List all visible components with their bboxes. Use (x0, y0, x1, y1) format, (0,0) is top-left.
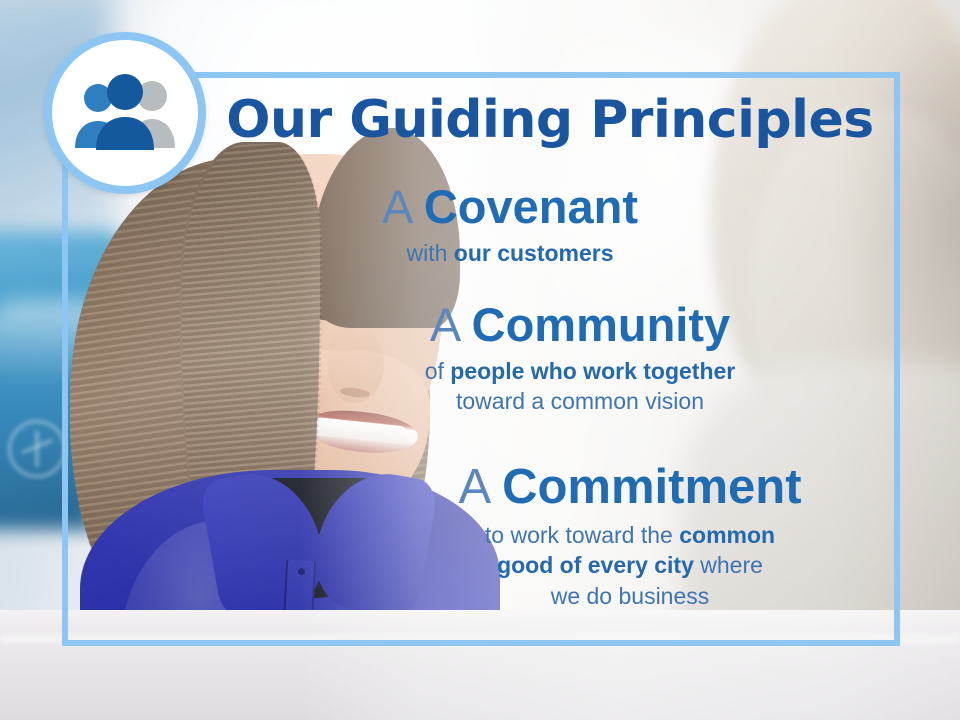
principle-headline: A Community (300, 300, 860, 350)
page-title: Our Guiding Principles (220, 93, 880, 148)
principle-covenant: A Covenant with our customers (250, 182, 770, 268)
principle-article: A (458, 460, 488, 514)
subtext-run: with (406, 240, 453, 266)
subtext-emphasis: common (679, 522, 775, 548)
subtext-emphasis: people who work together (450, 358, 735, 384)
subtext-run: toward a common vision (456, 388, 704, 414)
subtext-emphasis: good of every city (497, 552, 694, 578)
principle-article: A (382, 180, 411, 233)
principle-subtext: to work toward the commongood of every c… (340, 520, 920, 611)
subtext-run: we do business (551, 583, 710, 609)
polo-button (298, 568, 305, 575)
banner-canvas: FLOW AUTOMOTIVE FLOW (0, 0, 960, 720)
principle-subtext-line: to work toward the common (340, 520, 920, 550)
subtext-emphasis: our customers (454, 240, 614, 266)
principle-headline: A Commitment (340, 462, 920, 514)
people-badge (44, 32, 206, 194)
principle-subtext-line: good of every city where (340, 550, 920, 580)
principle-subtext-line: of people who work together (300, 356, 860, 386)
principle-subtext-line: we do business (340, 581, 920, 611)
people-group-icon (67, 74, 183, 152)
principle-keyword: Commitment (502, 460, 801, 514)
subtext-run: where (694, 552, 763, 578)
principle-community: A Community of people who work togethert… (300, 300, 860, 417)
employee-teeth (313, 417, 406, 445)
principle-keyword: Community (472, 298, 731, 351)
principle-subtext-line: with our customers (250, 238, 770, 268)
vehicle-emblem-icon (8, 420, 66, 478)
subtext-run: of (425, 358, 451, 384)
principle-subtext: of people who work togethertoward a comm… (300, 356, 860, 417)
principle-subtext-line: toward a common vision (300, 386, 860, 416)
white-table-surface (0, 610, 960, 720)
subtext-run: to work toward the (485, 522, 679, 548)
principle-keyword: Covenant (424, 180, 638, 233)
principle-headline: A Covenant (250, 182, 770, 232)
table-edge-highlight (0, 632, 960, 642)
principle-subtext: with our customers (250, 238, 770, 268)
principle-commitment: A Commitment to work toward the commongo… (340, 462, 920, 611)
principle-article: A (430, 298, 459, 351)
